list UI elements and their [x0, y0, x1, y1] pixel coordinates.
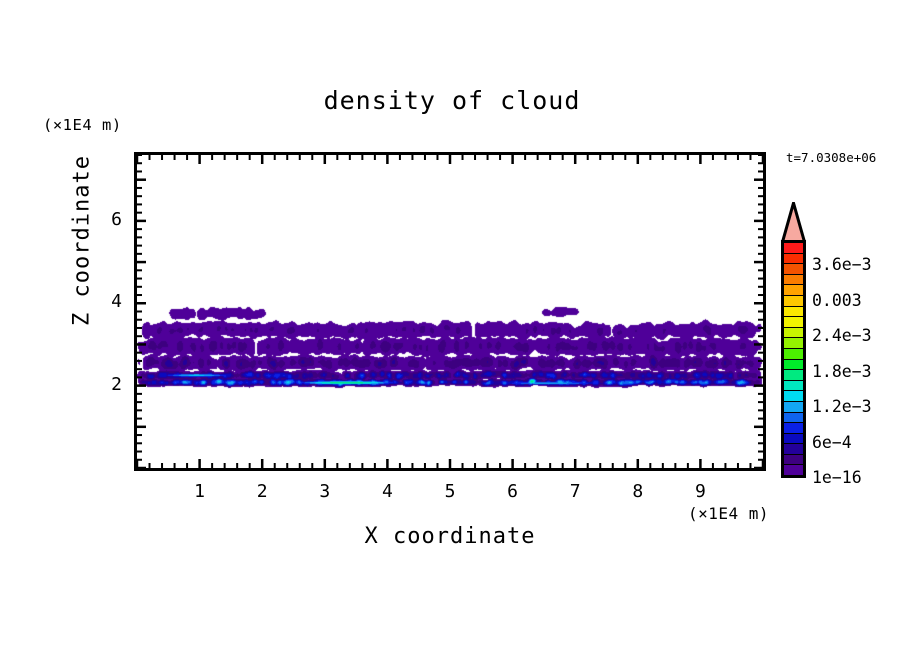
colorbar-tick-label: 0.003 [812, 291, 862, 310]
colorbar-band [784, 307, 803, 318]
colorbar-band [784, 434, 803, 445]
colorbar-tick-label: 1.8e−3 [812, 362, 872, 381]
x-tick-label: 8 [623, 481, 653, 502]
colorbar-band [784, 328, 803, 339]
x-tick-label: 4 [372, 481, 402, 502]
x-axis-title: X coordinate [134, 524, 766, 549]
y-tick-label: 2 [92, 374, 122, 395]
colorbar-tick-label: 2.4e−3 [812, 326, 872, 345]
colorbar-tick-label: 1e−16 [812, 468, 862, 487]
colorbar-band [784, 402, 803, 413]
colorbar-band [784, 465, 803, 475]
colorbar-band [784, 455, 803, 466]
density-field-canvas [137, 155, 763, 468]
colorbar-band [784, 275, 803, 286]
colorbar-band [784, 349, 803, 360]
y-axis-title: Z coordinate [70, 141, 95, 341]
y-tick-label: 4 [92, 291, 122, 312]
colorbar-band [784, 360, 803, 371]
colorbar [781, 240, 806, 478]
colorbar-band [784, 391, 803, 402]
colorbar-band [784, 413, 803, 424]
colorbar-tick-label: 3.6e−3 [812, 255, 872, 274]
colorbar-band [784, 285, 803, 296]
colorbar-band [784, 264, 803, 275]
colorbar-tick-label: 1.2e−3 [812, 397, 872, 416]
x-axis-unit-label: (×1E4 m) [688, 504, 769, 523]
y-tick-label: 6 [92, 209, 122, 230]
x-tick-label: 2 [247, 481, 277, 502]
colorbar-band [784, 296, 803, 307]
colorbar-band [784, 444, 803, 455]
y-axis-unit-label: (×1E4 m) [43, 116, 122, 134]
colorbar-band [784, 254, 803, 265]
colorbar-band [784, 317, 803, 328]
plot-area [134, 152, 766, 471]
page-title: density of cloud [0, 86, 904, 115]
colorbar-band [784, 243, 803, 254]
x-tick-label: 6 [498, 481, 528, 502]
x-tick-label: 9 [685, 481, 715, 502]
x-tick-label: 1 [185, 481, 215, 502]
colorbar-band [784, 423, 803, 434]
figure-root: density of cloud (×1E4 m) t=7.0308e+06 1… [0, 0, 904, 654]
colorbar-over-arrow-icon [781, 202, 806, 243]
timestamp-label: t=7.0308e+06 [786, 150, 876, 165]
colorbar-band [784, 381, 803, 392]
colorbar-band [784, 370, 803, 381]
x-tick-label: 3 [310, 481, 340, 502]
colorbar-band [784, 338, 803, 349]
x-tick-label: 5 [435, 481, 465, 502]
colorbar-tick-label: 6e−4 [812, 433, 852, 452]
x-tick-label: 7 [560, 481, 590, 502]
